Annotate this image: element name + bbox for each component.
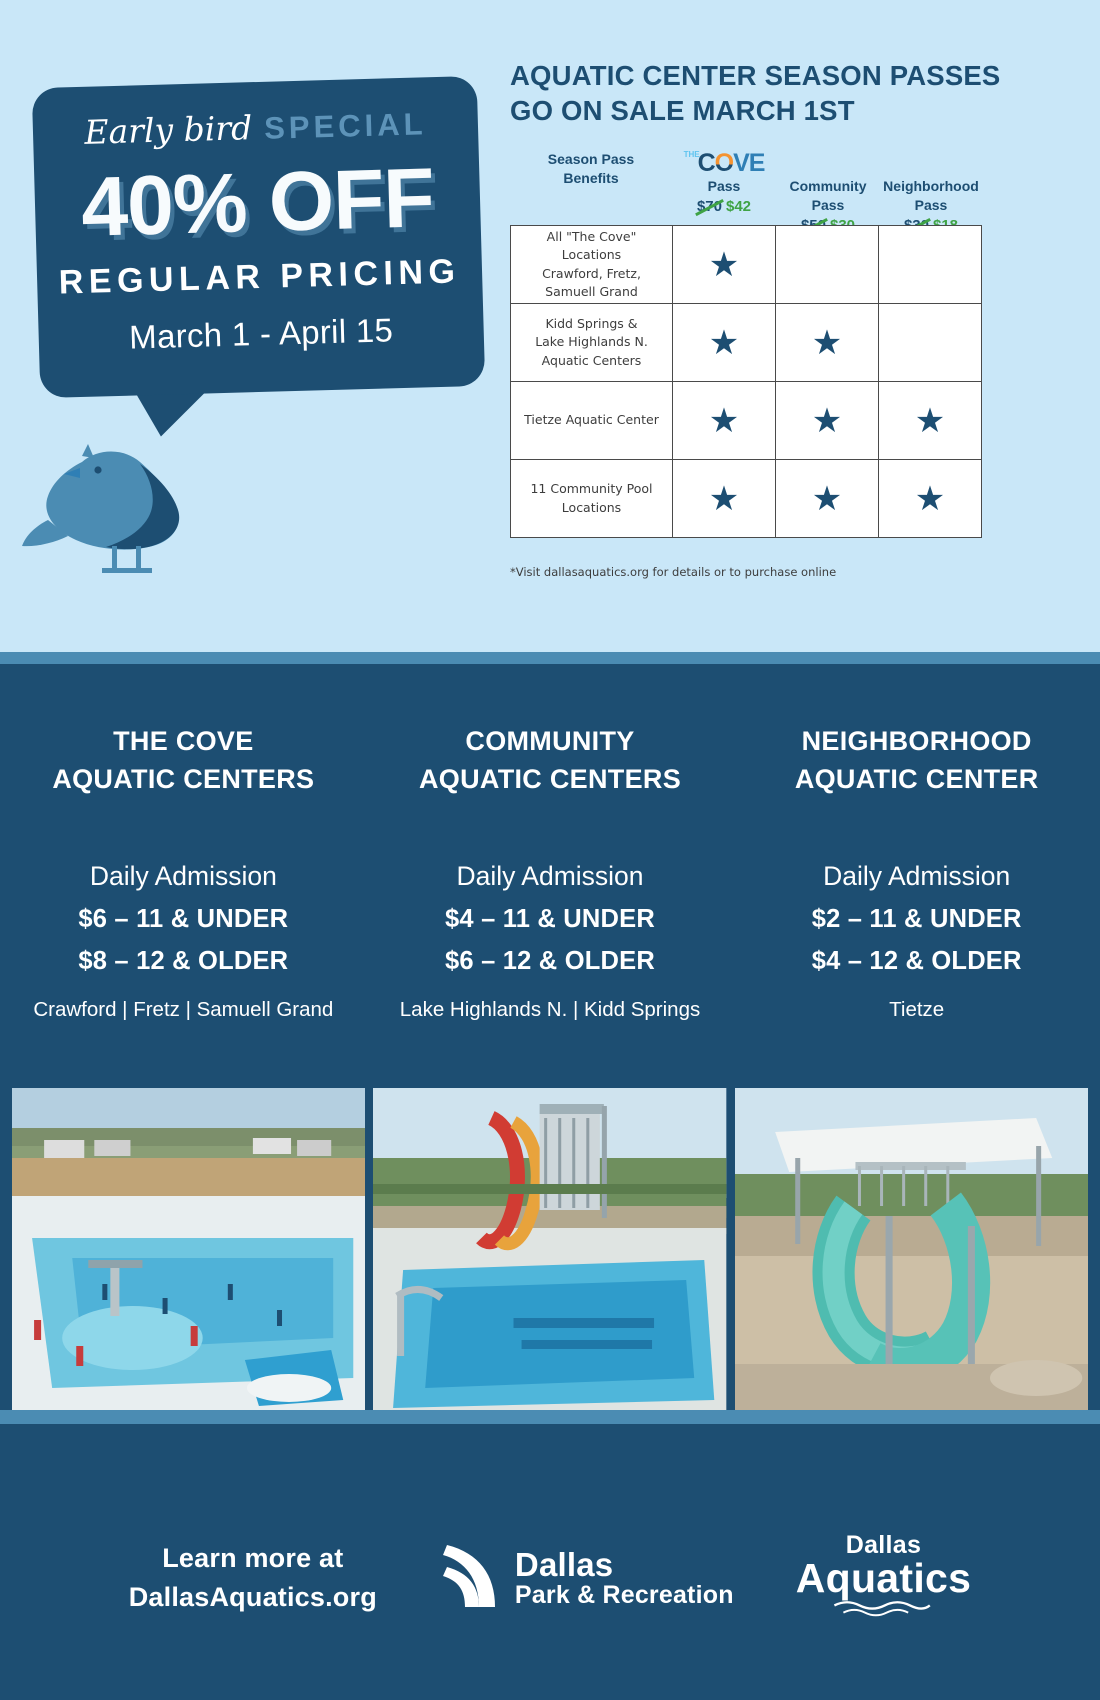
early-bird-promo-bubble: Early bird SPECIAL 40% OFF REGULAR PRICI…: [36, 82, 481, 392]
aquatics-line-2: Aquatics: [796, 1558, 972, 1600]
park-rec-line-1: Dallas: [515, 1547, 734, 1583]
col-header-neighborhood-pass: Neighborhood Pass $30$18: [880, 150, 982, 237]
cove-pass-cell: ★: [673, 460, 776, 538]
star-icon: ★: [709, 480, 739, 518]
community-pass-cell: ★: [776, 460, 879, 538]
cove-pass-price: $70$42: [672, 198, 776, 218]
photo-strip: [0, 1088, 1100, 1410]
benefits-label-1: Season Pass: [510, 150, 672, 169]
table-footnote: *Visit dallasaquatics.org for details or…: [510, 565, 836, 579]
pass-table-header: Season Pass Benefits THECOVE Pass $70$42…: [510, 150, 982, 237]
neighborhood-pass-cell: ★: [879, 460, 982, 538]
cove-logo-c: C: [698, 151, 715, 176]
community-pass-cell: ★: [776, 382, 879, 460]
learn-more-block[interactable]: Learn more at DallasAquatics.org: [129, 1539, 377, 1617]
star-icon: ★: [915, 402, 945, 440]
footer-section: Learn more at DallasAquatics.org Dallas …: [0, 1424, 1100, 1700]
headline-line-2: GO ON SALE MARCH 1ST: [510, 93, 1030, 128]
neighborhood-pass-label-1: Neighborhood: [880, 177, 982, 196]
neighborhood-pass-cell: ★: [879, 382, 982, 460]
tier-title: COMMUNITYAQUATIC CENTERS: [367, 722, 734, 799]
tier-columns: THE COVEAQUATIC CENTERSDaily Admission$6…: [0, 664, 1100, 1022]
star-icon: ★: [709, 246, 739, 284]
dallas-aquatics-logo: Dallas Aquatics: [796, 1533, 972, 1623]
daily-admission-label: Daily Admission: [733, 861, 1100, 892]
tier-title: NEIGHBORHOODAQUATIC CENTER: [733, 722, 1100, 799]
col-header-cove-pass: THECOVE Pass $70$42: [672, 150, 776, 237]
price-under: $2 – 11 & UNDER: [733, 905, 1100, 934]
price-under: $6 – 11 & UNDER: [0, 905, 367, 934]
the-cove-logo-icon: THECOVE: [672, 150, 776, 176]
price-under: $4 – 11 & UNDER: [367, 905, 734, 934]
tier-locations: Lake Highlands N. | Kidd Springs: [367, 998, 734, 1022]
benefit-cell: Tietze Aquatic Center: [511, 382, 673, 460]
dallas-park-recreation-logo: Dallas Park & Recreation: [439, 1539, 734, 1618]
bird-illustration: [20, 400, 240, 590]
learn-more-line-1: Learn more at: [129, 1539, 377, 1578]
cove-pass-cell: ★: [673, 304, 776, 382]
community-pass-label-1: Community: [776, 177, 880, 196]
tier-locations: Crawford | Fretz | Samuell Grand: [0, 998, 367, 1022]
pass-benefits-table: All "The Cove" LocationsCrawford, Fretz,…: [510, 225, 982, 538]
star-icon: ★: [915, 480, 945, 518]
col-header-community-pass: Community Pass $50$30: [776, 150, 880, 237]
star-icon: ★: [709, 402, 739, 440]
tier-column: COMMUNITYAQUATIC CENTERSDaily Admission$…: [367, 722, 734, 1022]
tier-column: THE COVEAQUATIC CENTERSDaily Admission$6…: [0, 722, 367, 1022]
daily-admission-label: Daily Admission: [0, 861, 367, 892]
tier-title: THE COVEAQUATIC CENTERS: [0, 722, 367, 799]
promo-dates: March 1 - April 15: [129, 311, 394, 356]
benefit-cell: All "The Cove" LocationsCrawford, Fretz,…: [511, 226, 673, 304]
price-older: $4 – 12 & OLDER: [733, 947, 1100, 976]
benefit-cell: 11 Community PoolLocations: [511, 460, 673, 538]
cove-pass-label: Pass: [672, 177, 776, 196]
early-bird-line: Early bird SPECIAL: [84, 103, 427, 159]
star-icon: ★: [812, 324, 842, 362]
learn-more-url[interactable]: DallasAquatics.org: [129, 1578, 377, 1617]
photo-lap-pool-slides: [373, 1088, 726, 1410]
discount-headline: 40% OFF: [80, 155, 435, 249]
top-section: Early bird SPECIAL 40% OFF REGULAR PRICI…: [0, 0, 1100, 652]
cove-logo-o: O: [715, 151, 733, 176]
col-header-benefits: Season Pass Benefits: [510, 150, 672, 237]
benefits-label-2: Benefits: [510, 169, 672, 188]
neighborhood-pass-label-2: Pass: [880, 196, 982, 215]
price-older: $8 – 12 & OLDER: [0, 947, 367, 976]
cove-logo-ve: VE: [733, 151, 764, 176]
star-icon: ★: [812, 480, 842, 518]
cove-pass-cell: ★: [673, 382, 776, 460]
neighborhood-pass-cell: [879, 226, 982, 304]
bubble-content: Early bird SPECIAL 40% OFF REGULAR PRICI…: [32, 76, 485, 398]
divider-band-top: [0, 652, 1100, 664]
table-row: All "The Cove" LocationsCrawford, Fretz,…: [511, 226, 982, 304]
neighborhood-pass-cell: [879, 304, 982, 382]
park-rec-text: Dallas Park & Recreation: [515, 1547, 734, 1610]
community-pass-cell: ★: [776, 304, 879, 382]
special-text: SPECIAL: [264, 106, 427, 147]
benefit-cell: Kidd Springs &Lake Highlands N.Aquatic C…: [511, 304, 673, 382]
table-row: Kidd Springs &Lake Highlands N.Aquatic C…: [511, 304, 982, 382]
page-title: AQUATIC CENTER SEASON PASSES GO ON SALE …: [510, 58, 1030, 128]
daily-admission-section: THE COVEAQUATIC CENTERSDaily Admission$6…: [0, 664, 1100, 1088]
headline-line-1: AQUATIC CENTER SEASON PASSES: [510, 58, 1030, 93]
price-older: $6 – 12 & OLDER: [367, 947, 734, 976]
cove-pass-cell: ★: [673, 226, 776, 304]
community-pass-label-2: Pass: [776, 196, 880, 215]
community-pass-cell: [776, 226, 879, 304]
table-row: 11 Community PoolLocations★★★: [511, 460, 982, 538]
poster-page: Early bird SPECIAL 40% OFF REGULAR PRICI…: [0, 0, 1100, 1700]
regular-pricing-text: REGULAR PRICING: [58, 252, 461, 302]
photo-water-slide-tower: [735, 1088, 1088, 1410]
cove-new-price: $42: [726, 198, 751, 215]
park-rec-line-2: Park & Recreation: [515, 1582, 734, 1609]
water-ripple-icon: [823, 1605, 943, 1622]
daily-admission-label: Daily Admission: [367, 861, 734, 892]
star-icon: ★: [812, 402, 842, 440]
star-icon: ★: [709, 324, 739, 362]
tier-locations: Tietze: [733, 998, 1100, 1022]
table-row: Tietze Aquatic Center★★★: [511, 382, 982, 460]
cove-old-price: $70: [697, 198, 722, 215]
tier-column: NEIGHBORHOODAQUATIC CENTERDaily Admissio…: [733, 722, 1100, 1022]
park-rec-swoosh-icon: [439, 1539, 501, 1618]
early-bird-script-text: Early bird: [84, 108, 253, 152]
divider-band-bottom: [0, 1410, 1100, 1424]
photo-splash-pool: [12, 1088, 365, 1410]
